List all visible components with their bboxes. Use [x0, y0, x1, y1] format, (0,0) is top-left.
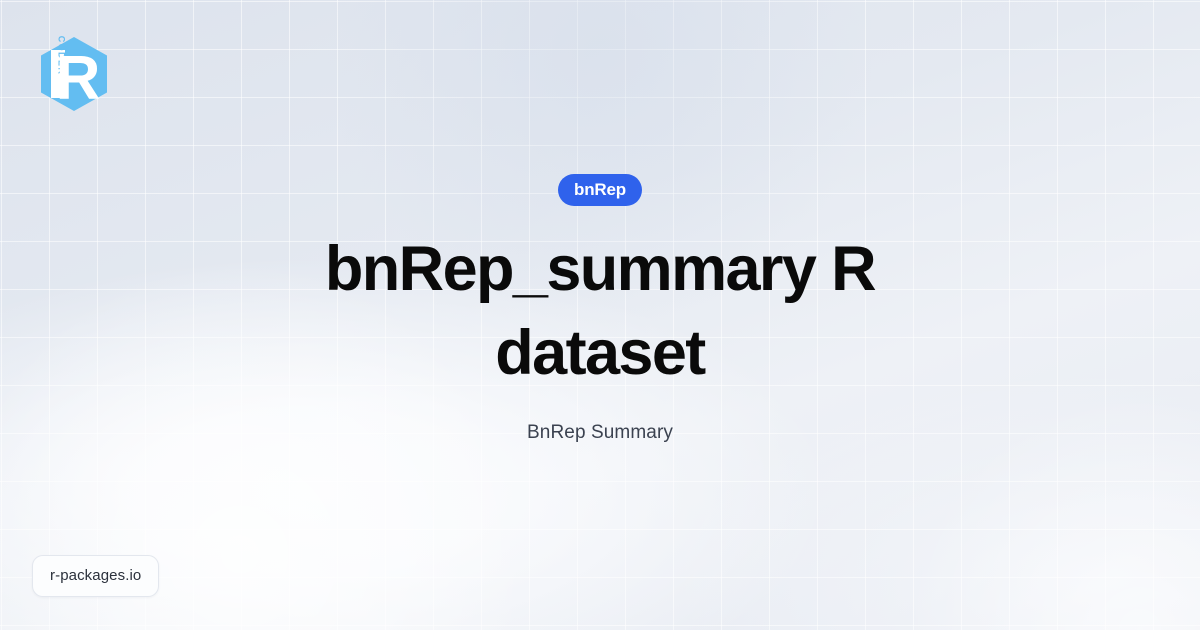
hero-content: bnRep bnRep_summary R dataset BnRep Summ… — [0, 0, 1200, 630]
site-url-chip[interactable]: r-packages.io — [32, 555, 159, 597]
og-card: CODER R bnRep bnRep_summary R dataset Bn… — [0, 0, 1200, 630]
page-subtitle: BnRep Summary — [527, 421, 673, 446]
page-title: bnRep_summary R dataset — [320, 228, 880, 396]
package-badge[interactable]: bnRep — [558, 174, 642, 206]
